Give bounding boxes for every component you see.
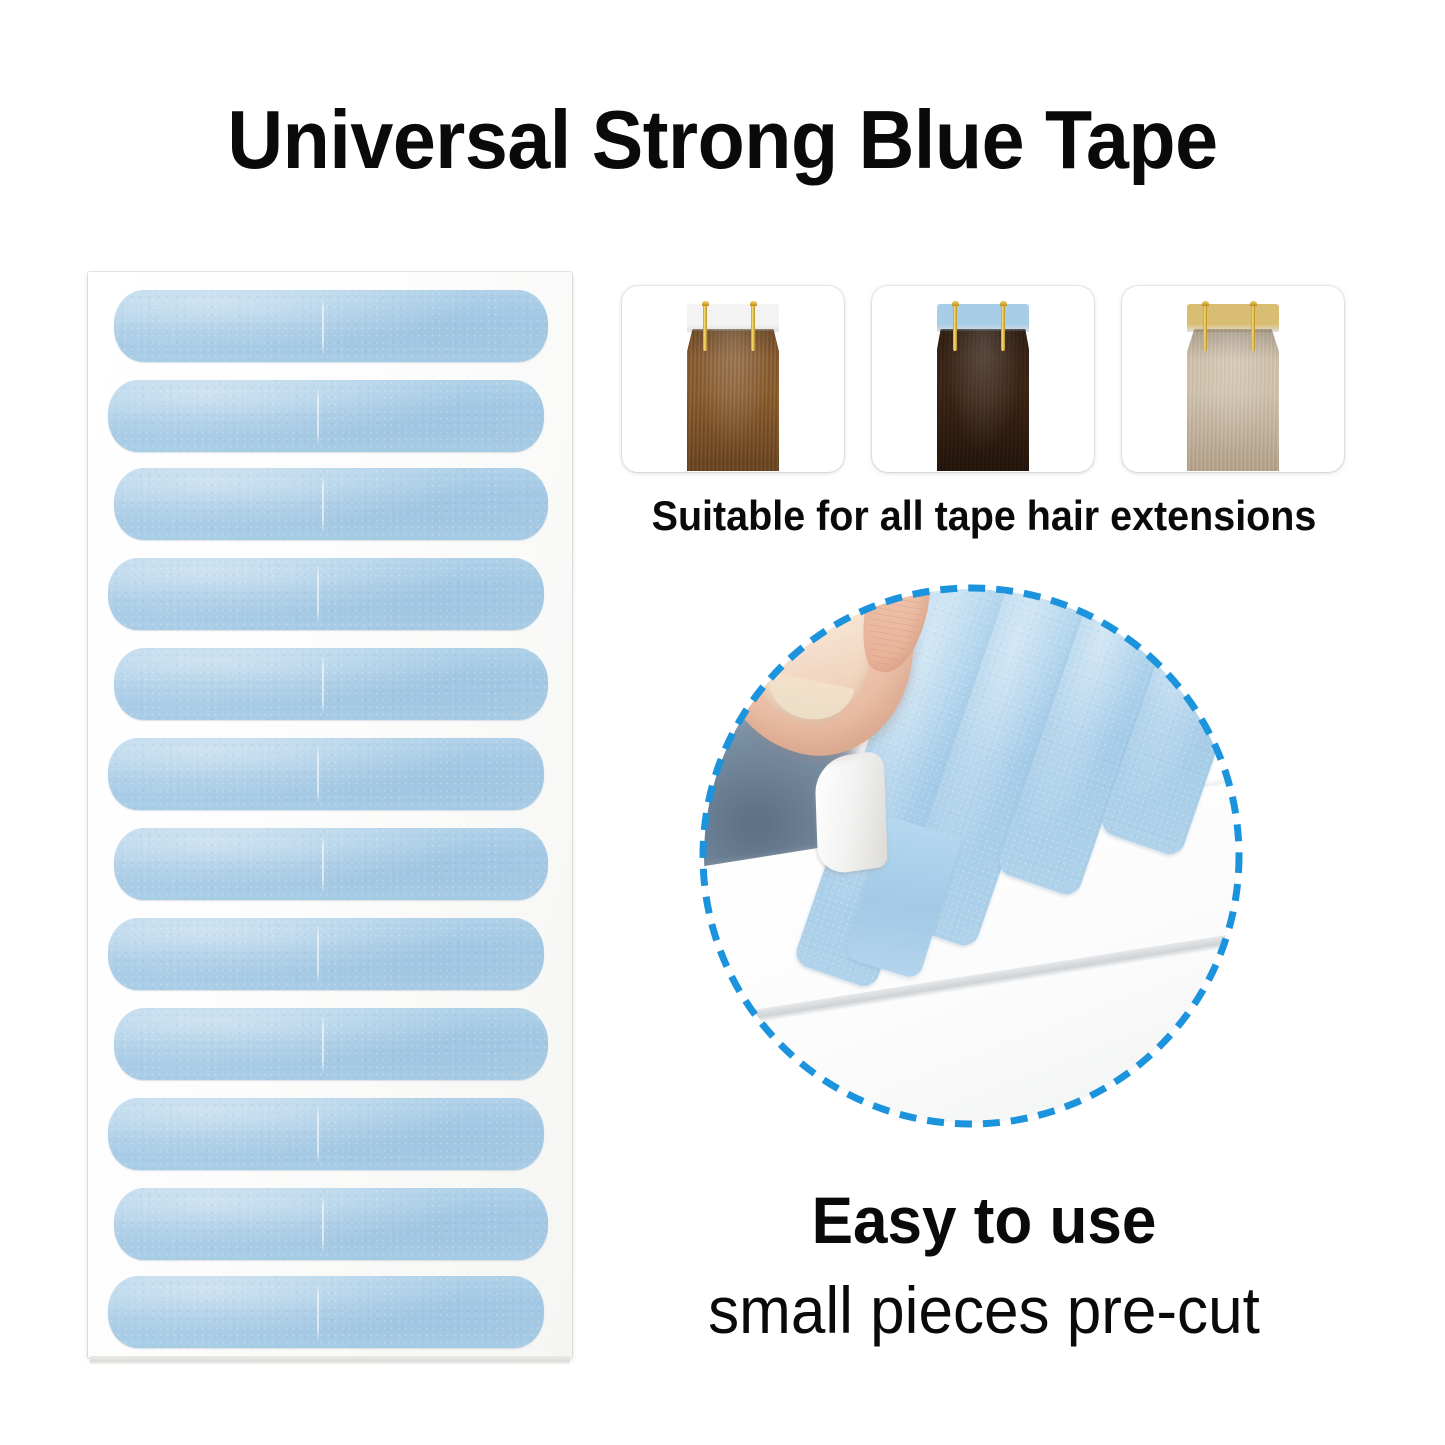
tape-strip-group (88, 272, 572, 1358)
photo-peeled-backing-liner (814, 749, 887, 875)
thumbnail-card-dark-brown-hair-extension (872, 286, 1094, 472)
hair-strands (1187, 329, 1279, 471)
thumbnail-card-medium-brown-hair-extension (622, 286, 844, 472)
gold-pin-icon (1001, 301, 1005, 351)
gold-pin-icon (751, 301, 755, 351)
tape-strip (108, 1098, 544, 1170)
benefit-subline: small pieces pre-cut (623, 1272, 1345, 1348)
tape-strip (108, 738, 544, 810)
tape-weft (687, 304, 779, 332)
hair-weft (658, 304, 808, 472)
hair-strands (687, 329, 779, 471)
photo-fingernail-tip (761, 671, 855, 727)
hair-strands (937, 329, 1029, 471)
gold-pin-icon (1203, 301, 1207, 351)
tape-strip (114, 1188, 548, 1260)
tape-strip (114, 1008, 548, 1080)
tape-strip (114, 828, 548, 900)
gold-pin-icon (953, 301, 957, 351)
gold-pin-icon (703, 301, 707, 351)
tape-strip (108, 918, 544, 990)
thumbnail-card-ash-blonde-hair-extension (1122, 286, 1344, 472)
tape-strip (108, 380, 544, 452)
tape-strip (108, 558, 544, 630)
benefit-headline: Easy to use (623, 1182, 1345, 1258)
page-title: Universal Strong Blue Tape (51, 96, 1395, 183)
tape-weft (937, 304, 1029, 332)
peel-demo-circle (698, 583, 1244, 1129)
hair-weft (908, 304, 1058, 472)
tape-strip (114, 648, 548, 720)
tape-strip (114, 468, 548, 540)
tape-strip (114, 290, 548, 362)
hair-extension-thumbnails (622, 286, 1344, 476)
hair-weft (1158, 304, 1308, 472)
product-infographic: Universal Strong Blue Tape Suitable for … (0, 0, 1445, 1445)
peel-demo-photo (704, 589, 1238, 1123)
gold-pin-icon (1251, 301, 1255, 351)
thumbnails-caption: Suitable for all tape hair extensions (623, 492, 1345, 540)
tape-strip (108, 1276, 544, 1348)
tape-weft (1187, 304, 1279, 332)
tape-sheet-image (88, 272, 572, 1358)
